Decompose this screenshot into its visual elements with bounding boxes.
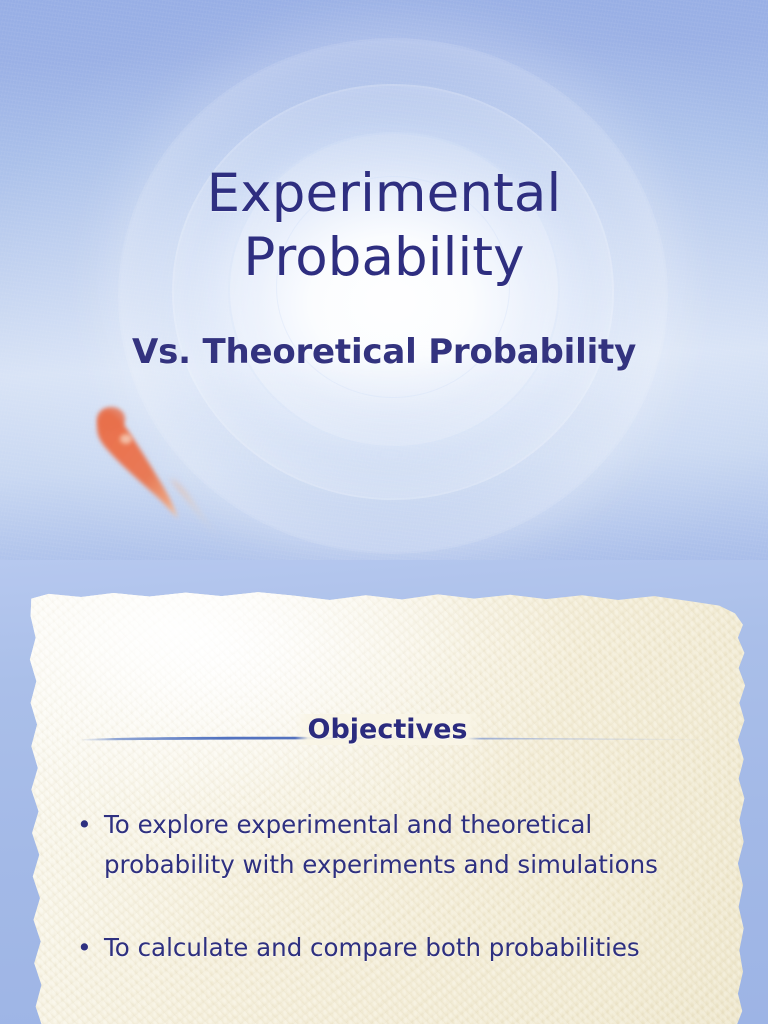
bullet-marker-icon: • [77, 805, 104, 846]
list-item-text: To explore experimental and theoretical … [104, 805, 717, 886]
list-item: • To calculate and compare both probabil… [77, 928, 717, 969]
section-heading: Objectives [27, 714, 748, 745]
list-item-text: To calculate and compare both probabilit… [104, 928, 717, 968]
page-title-line-1: Experimental [0, 162, 768, 226]
content-background-panel: Objectives • To explore experimental and… [0, 560, 768, 1024]
list-item: • To explore experimental and theoretica… [77, 805, 717, 886]
title-block: Experimental Probability [0, 162, 768, 289]
objectives-bullet-list: • To explore experimental and theoretica… [77, 805, 717, 1010]
title-background-panel: Experimental Probability Vs. Theoretical… [0, 0, 768, 600]
torn-paper-sheet: Objectives • To explore experimental and… [27, 590, 748, 1024]
section-heading-row: Objectives [27, 714, 748, 760]
slide-root: Experimental Probability Vs. Theoretical… [0, 0, 768, 1024]
page-title-line-2: Probability [0, 226, 768, 290]
bullet-marker-icon: • [77, 928, 104, 969]
paper-grain-overlay [0, 0, 768, 600]
page-subtitle: Vs. Theoretical Probability [0, 332, 768, 372]
section-heading-text: Objectives [295, 714, 481, 745]
